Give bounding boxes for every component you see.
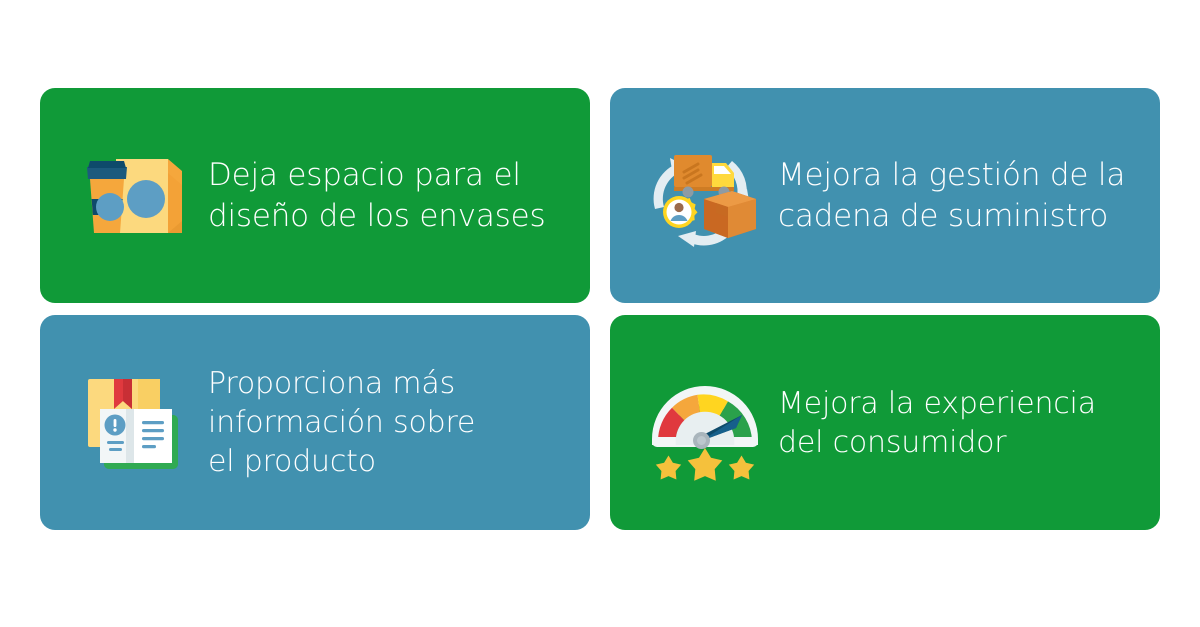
- benefit-card-supply-chain[interactable]: Mejora la gestión de la cadena de sumini…: [610, 88, 1160, 303]
- infographic-root: Deja espacio para el diseño de los envas…: [0, 0, 1200, 627]
- benefit-card-text: Mejora la experiencia del consumidor: [778, 384, 1142, 462]
- coffee-cup-and-package-icon: [76, 137, 194, 255]
- benefit-card-consumer-experience[interactable]: Mejora la experiencia del consumidor: [610, 315, 1160, 530]
- benefit-card-text: Proporciona más información sobre el pro…: [208, 364, 572, 481]
- benefit-card-packaging-design[interactable]: Deja espacio para el diseño de los envas…: [40, 88, 590, 303]
- benefit-card-product-information[interactable]: Proporciona más información sobre el pro…: [40, 315, 590, 530]
- benefit-card-text: Mejora la gestión de la cadena de sumini…: [778, 155, 1142, 236]
- supply-chain-cycle-icon: [646, 137, 764, 255]
- benefit-card-text: Deja espacio para el diseño de los envas…: [208, 155, 572, 236]
- box-and-manual-icon: [76, 365, 194, 483]
- gauge-and-stars-rating-icon: [646, 365, 764, 483]
- benefit-cards-grid: Deja espacio para el diseño de los envas…: [40, 88, 1160, 530]
